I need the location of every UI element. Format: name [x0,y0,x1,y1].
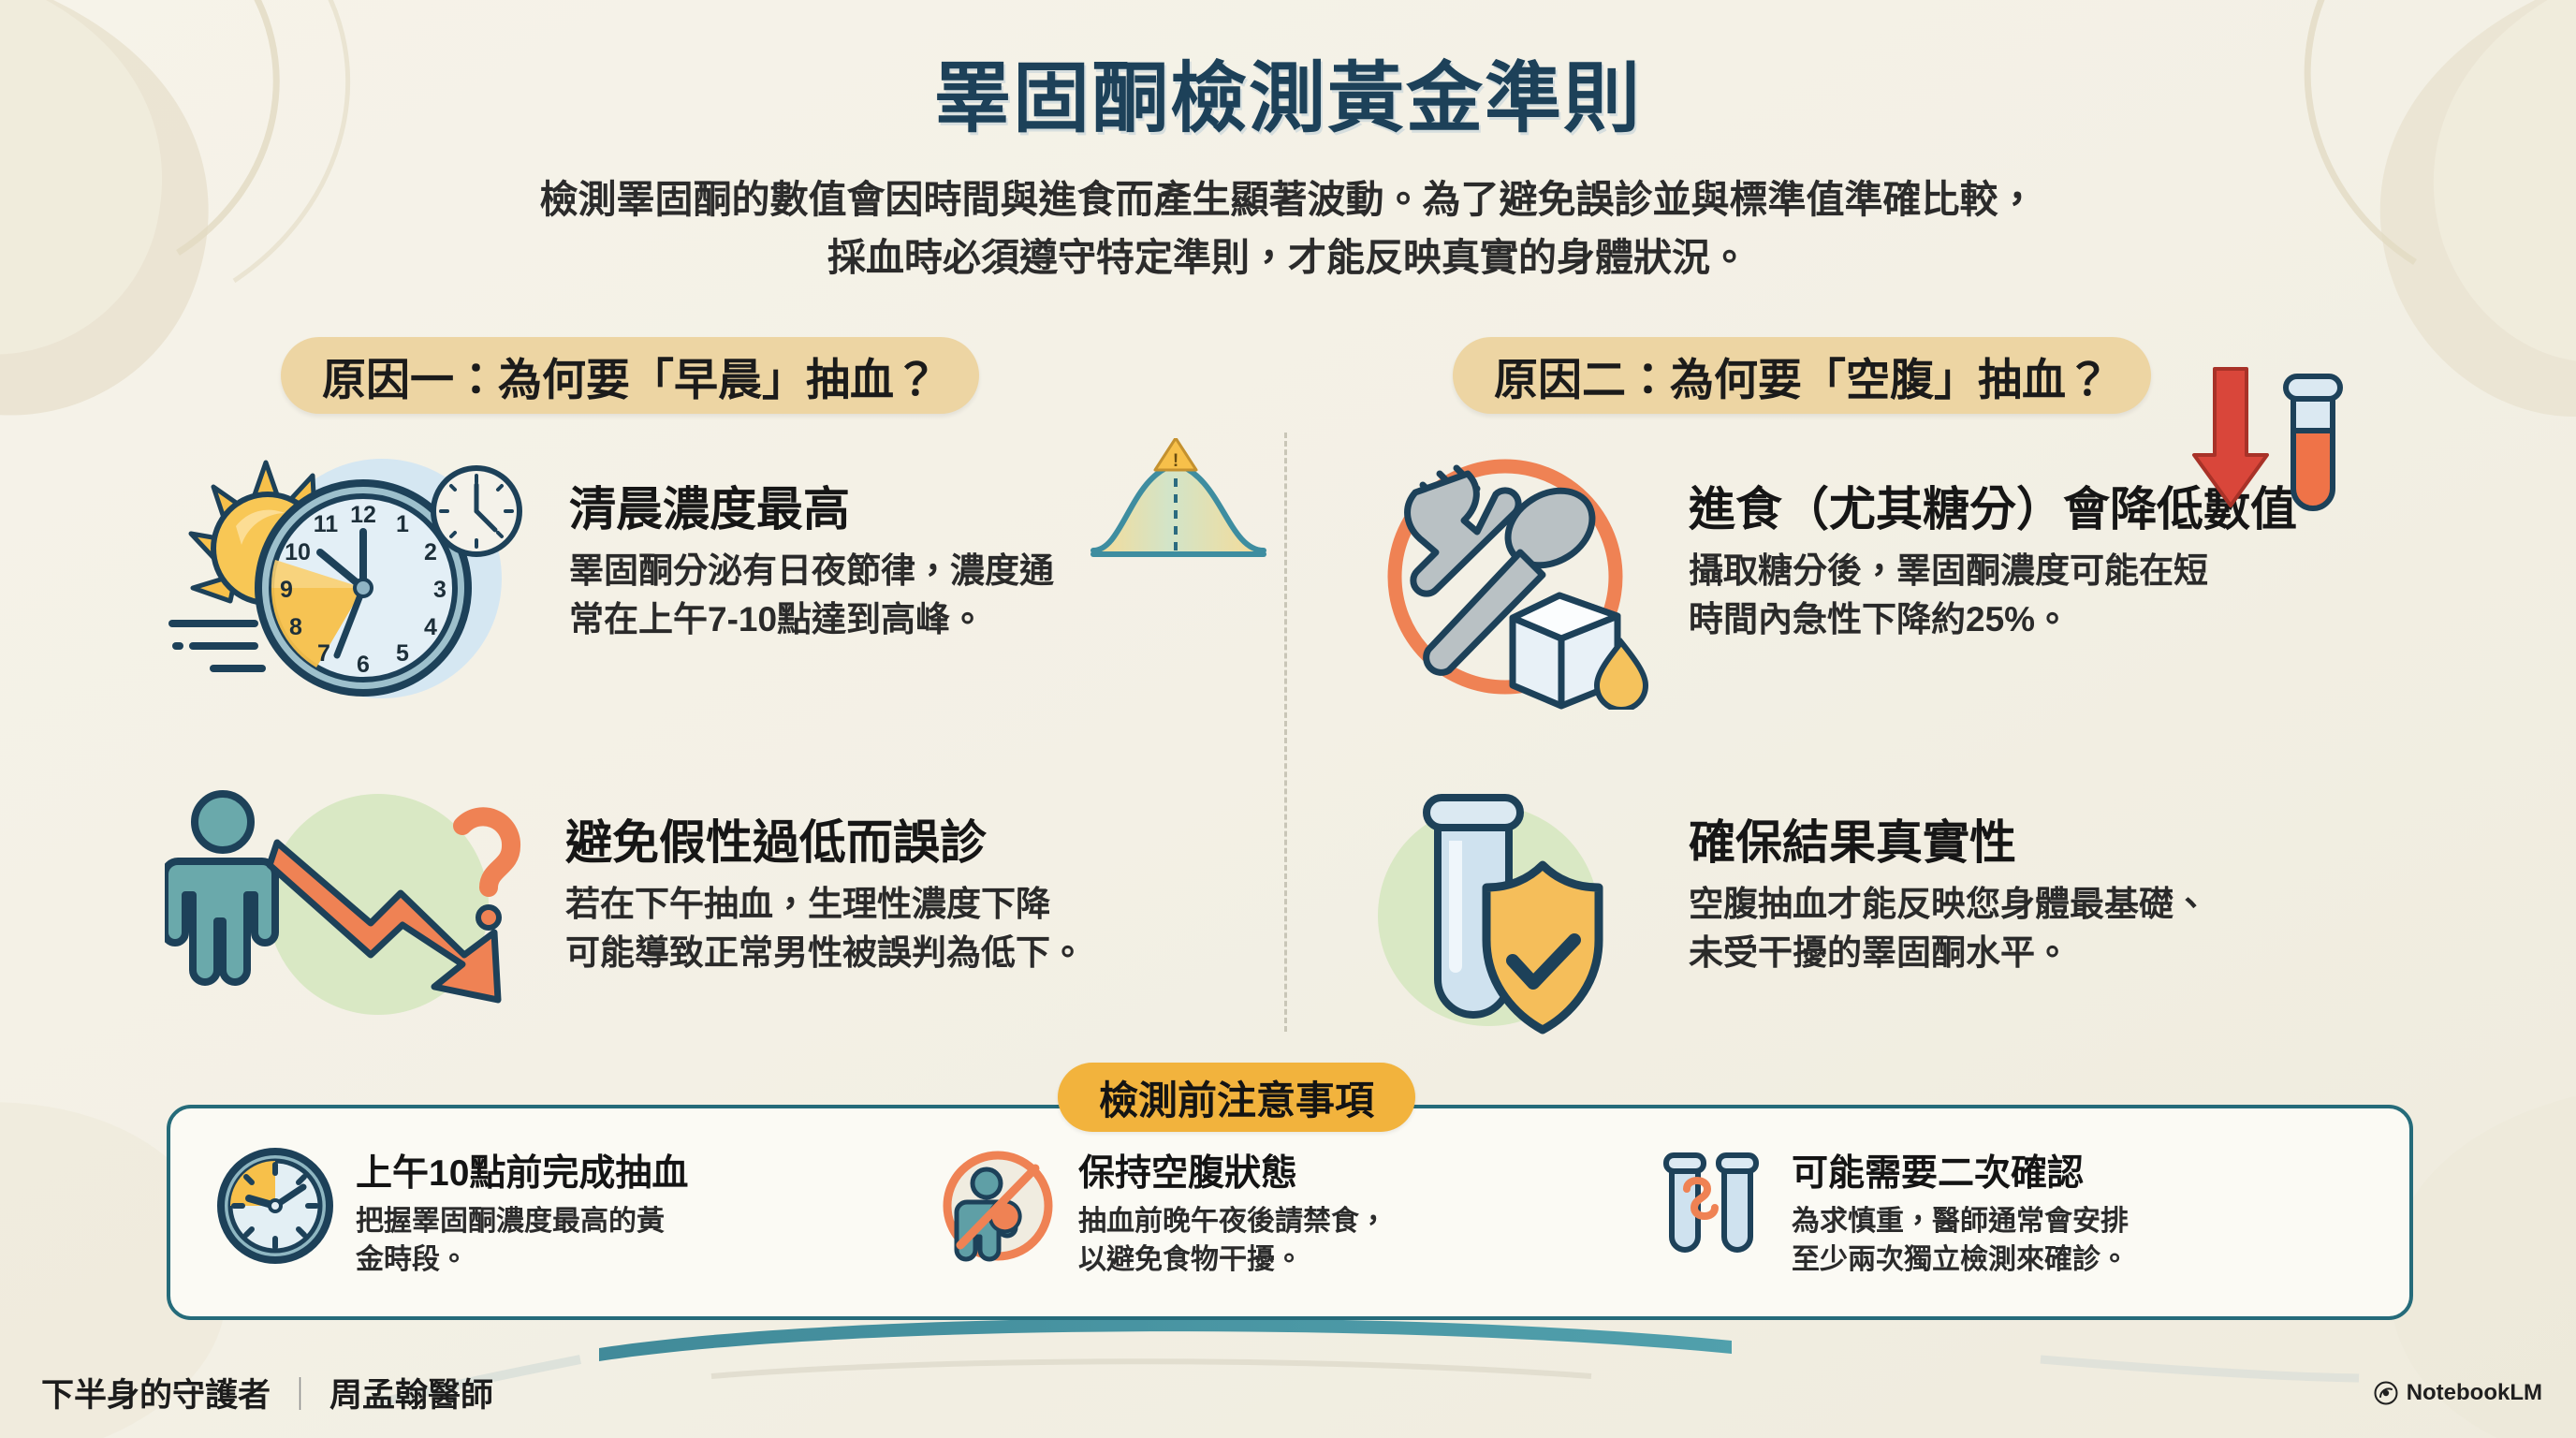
tip-body-line-2: 金時段。 [356,1240,688,1279]
clock-morning-icon [213,1144,337,1272]
svg-text:11: 11 [314,511,339,537]
tip-item-fasting: 保持空腹狀態 抽血前晚午夜後請禁食， 以避免食物干擾。 [936,1144,1387,1279]
svg-text:!: ! [1173,451,1178,471]
svg-text:6: 6 [357,652,370,678]
block-heading: 清晨濃度最高 [569,483,1054,536]
no-eating-icon [936,1144,1060,1272]
block-body-line-1: 攝取糖分後，睪固酮濃度可能在短 [1689,547,2297,595]
subtitle-line-2: 採血時必須遵守特定準則，才能反映真實的身體狀況。 [0,228,2576,286]
footer-credit: 下半身的守護者 ｜ 周孟翰醫師 [41,1369,493,1416]
block-body-line-2: 時間內急性下降約25%。 [1689,595,2297,644]
svg-text:12: 12 [350,502,376,528]
block-body: 攝取糖分後，睪固酮濃度可能在短 時間內急性下降約25%。 [1689,547,2297,644]
column-divider [1284,433,1287,1032]
notebooklm-logo-icon [2374,1381,2398,1405]
section-header-reason-two: 原因二：為何要「空腹」抽血？ [1453,337,2151,414]
footer-separator: ｜ [284,1369,316,1416]
block-body-line-1: 若在下午抽血，生理性濃度下降 [565,880,1085,929]
tip-body-line-1: 抽血前晚午夜後請禁食， [1078,1202,1387,1240]
svg-text:7: 7 [317,640,330,667]
tip-body: 把握睪固酮濃度最高的黃 金時段。 [356,1202,688,1279]
reason-block-food-lowers: 進食（尤其糖分）會降低數值 攝取糖分後，睪固酮濃度可能在短 時間內急性下降約25… [1374,448,2297,714]
reason-block-false-low: 避免假性過低而誤診 若在下午抽血，生理性濃度下降 可能導致正常男性被誤判為低下。 [165,785,1085,1033]
reason-block-morning-peak: 121 23 45 67 89 1011 [165,448,1054,724]
drop-arrow-tube-icon [2188,363,2357,513]
svg-text:9: 9 [280,577,293,603]
notebooklm-watermark: NotebookLM [2374,1380,2542,1406]
two-test-tubes-icon [1649,1144,1773,1272]
tip-body-line-2: 以避免食物干擾。 [1078,1240,1387,1279]
circadian-curve-icon: ! [1086,438,1273,583]
tip-item-morning-cutoff: 上午10點前完成抽血 把握睪固酮濃度最高的黃 金時段。 [213,1144,688,1279]
page-subtitle: 檢測睪固酮的數值會因時間與進食而產生顯著波動。為了避免誤診並與標準值準確比較， … [0,170,2576,286]
tip-heading: 保持空腹狀態 [1078,1144,1387,1196]
block-body-line-1: 睪固酮分泌有日夜節律，濃度通 [569,547,1054,595]
footer-author: 周孟翰醫師 [329,1369,493,1416]
tip-item-second-confirmation: 可能需要二次確認 為求慎重，醫師通常會安排 至少兩次獨立檢測來確診。 [1649,1144,2129,1279]
subtitle-line-1: 檢測睪固酮的數值會因時間與進食而產生顯著波動。為了避免誤診並與標準值準確比較， [0,170,2576,228]
block-body: 空腹抽血才能反映您身體最基礎、 未受干擾的睪固酮水平。 [1689,880,2208,977]
notebooklm-label: NotebookLM [2407,1380,2542,1406]
svg-text:2: 2 [424,539,437,565]
section-header-reason-one: 原因一：為何要「早晨」抽血？ [281,337,979,414]
block-body: 睪固酮分泌有日夜節律，濃度通 常在上午7-10點達到高峰。 [569,547,1054,644]
page-title: 睪固酮檢測黃金準則 [0,36,2576,147]
svg-text:3: 3 [433,577,446,603]
sun-clock-icon: 121 23 45 67 89 1011 [165,448,539,724]
block-body-line-2: 常在上午7-10點達到高峰。 [569,595,1054,644]
svg-text:10: 10 [285,539,311,565]
tip-body-line-1: 把握睪固酮濃度最高的黃 [356,1202,688,1240]
block-body: 若在下午抽血，生理性濃度下降 可能導致正常男性被誤判為低下。 [565,880,1085,977]
block-body-line-1: 空腹抽血才能反映您身體最基礎、 [1689,880,2208,929]
test-tube-shield-check-icon [1374,785,1655,1051]
block-body-line-2: 未受干擾的睪固酮水平。 [1689,929,2208,977]
svg-text:8: 8 [289,614,302,640]
block-heading: 確保結果真實性 [1689,816,2208,869]
person-declining-arrow-question-icon [165,785,539,1033]
no-food-sugar-cube-icon [1374,448,1655,714]
tip-body: 為求慎重，醫師通常會安排 至少兩次獨立檢測來確診。 [1792,1202,2129,1279]
footer-brand: 下半身的守護者 [41,1369,271,1416]
svg-text:5: 5 [396,640,409,667]
reason-block-true-result: 確保結果真實性 空腹抽血才能反映您身體最基礎、 未受干擾的睪固酮水平。 [1374,785,2208,1051]
block-heading: 避免假性過低而誤診 [565,816,1085,869]
tip-body-line-2: 至少兩次獨立檢測來確診。 [1792,1240,2129,1279]
svg-text:4: 4 [424,614,437,640]
tip-body-line-1: 為求慎重，醫師通常會安排 [1792,1202,2129,1240]
warning-icon: ! [1155,438,1196,471]
tip-heading: 上午10點前完成抽血 [356,1144,688,1196]
tip-body: 抽血前晚午夜後請禁食， 以避免食物干擾。 [1078,1202,1387,1279]
svg-text:1: 1 [396,511,409,537]
pre-test-notes-header: 檢測前注意事項 [1058,1063,1415,1132]
block-body-line-2: 可能導致正常男性被誤判為低下。 [565,929,1085,977]
tip-heading: 可能需要二次確認 [1792,1144,2129,1196]
